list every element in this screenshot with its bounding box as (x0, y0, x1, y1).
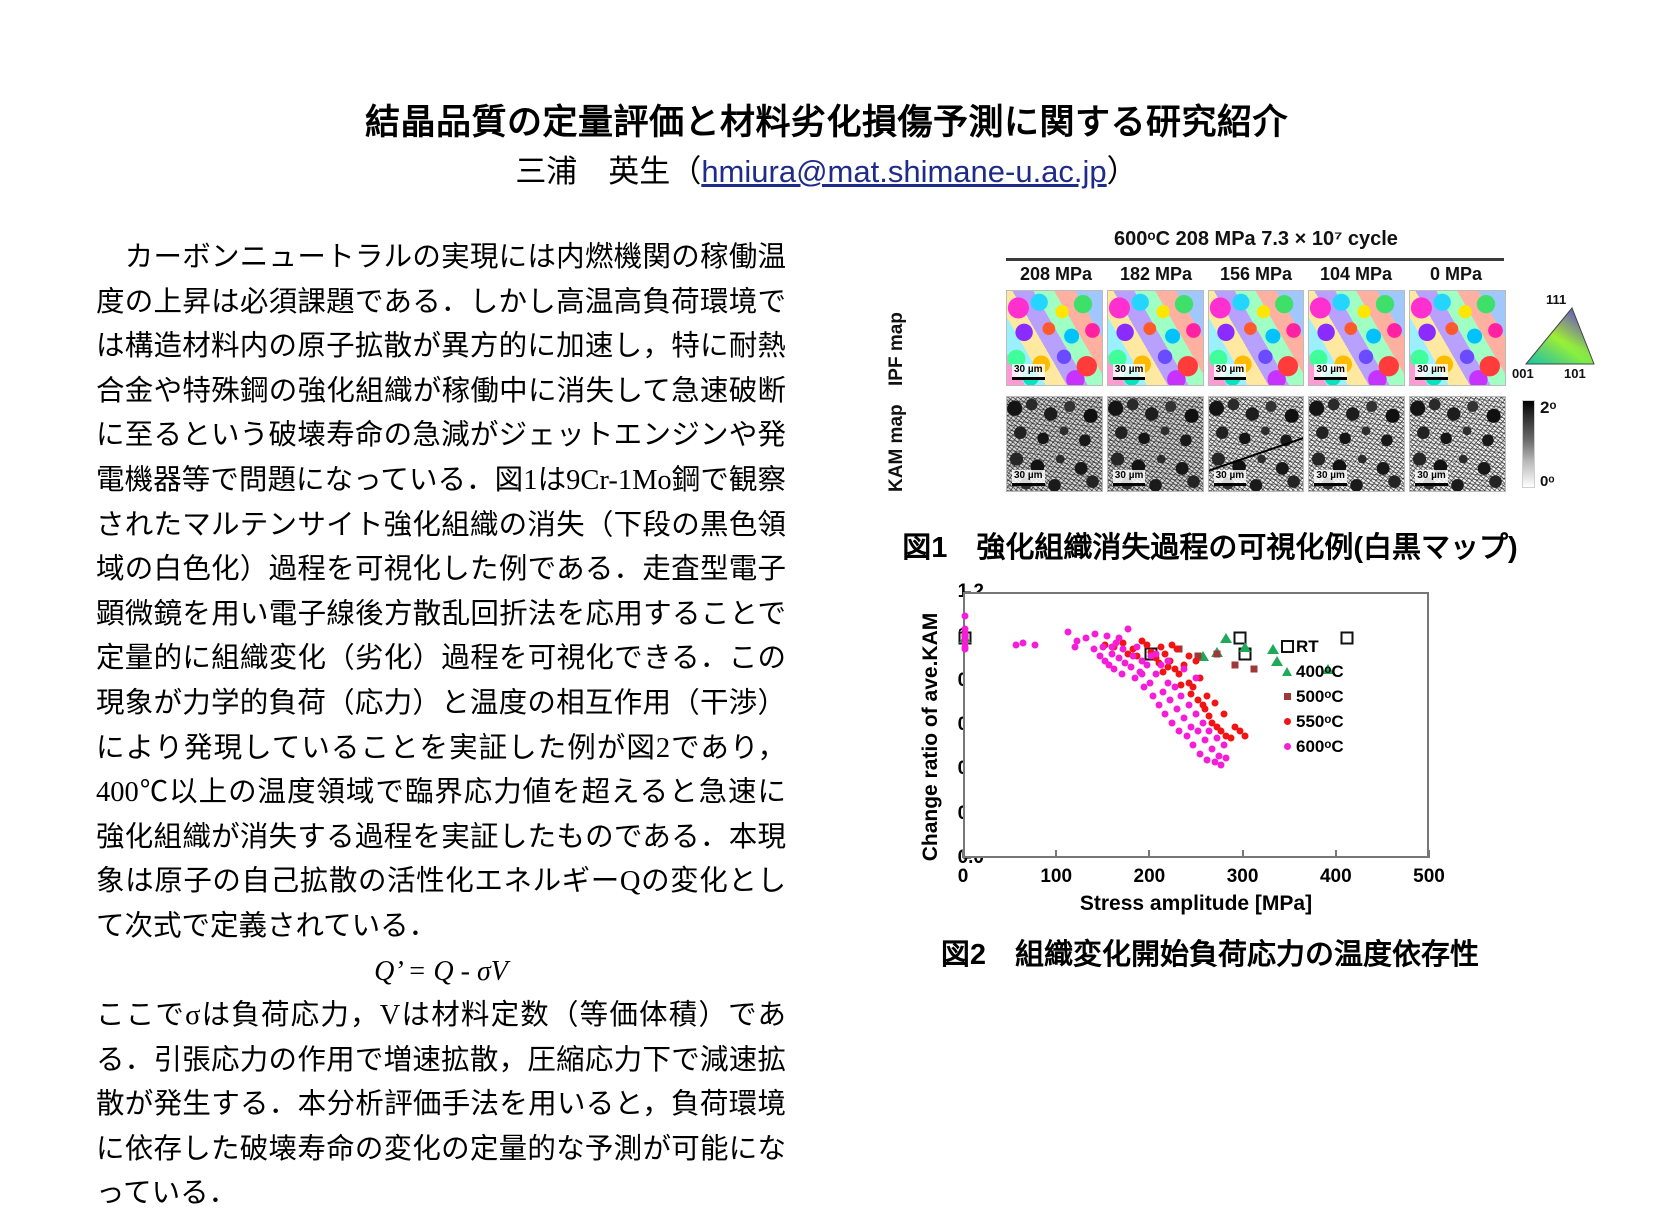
scale-bar-label: 30 µm (1314, 470, 1347, 486)
chart-data-point (1221, 741, 1228, 748)
ipf-label-111: 111 (1546, 292, 1566, 307)
figure-1-condition-header: 600ᵒC 208 MPa 7.3 × 10⁷ cycle (1006, 228, 1506, 251)
chart-x-tick-label: 200 (1119, 866, 1179, 888)
chart-data-point (1064, 628, 1071, 635)
chart-data-point (1220, 633, 1232, 643)
paren-open: （ (670, 154, 701, 189)
chart-x-tick-mark (1335, 850, 1337, 858)
chart-data-point (1165, 657, 1172, 664)
chart-data-point (1196, 750, 1203, 757)
ipf-map-tile: 30 µm (1107, 290, 1204, 386)
scale-bar-label: 30 µm (1012, 364, 1045, 380)
chart-x-tick-label: 0 (933, 866, 993, 888)
chart-data-point (1178, 681, 1185, 688)
equation-q-prime: Q’ = Q - σV (96, 950, 786, 995)
chart-data-point (1204, 692, 1211, 699)
figure-1-col-2: 156 MPa (1206, 264, 1306, 290)
chart-data-point (1168, 641, 1175, 648)
chart-data-point (1181, 715, 1188, 722)
chart-data-point (1171, 684, 1178, 691)
author-line: 三浦 英生（hmiura@mat.shimane-u.ac.jp） (0, 146, 1653, 191)
figure-1-col-3: 104 MPa (1306, 264, 1406, 290)
chart-data-point (1206, 728, 1213, 735)
chart-data-point (1193, 675, 1200, 682)
figure-1-row-label-ipf: IPF map (886, 290, 908, 386)
crack-line (1208, 433, 1305, 472)
chart-legend-item[interactable]: 400ᵒC (1278, 659, 1388, 684)
ipf-map-tile: 30 µm (1208, 290, 1305, 386)
chart-data-point (1195, 728, 1202, 735)
figure-1-col-1: 182 MPa (1106, 264, 1206, 290)
chart-data-point (1155, 701, 1162, 708)
chart-data-point (1127, 664, 1134, 671)
chart-data-point (1183, 732, 1190, 739)
chart-data-point (962, 613, 969, 620)
chart-data-point (1176, 728, 1183, 735)
chart-data-point (1031, 641, 1038, 648)
chart-data-point (962, 646, 969, 653)
scale-bar-label: 30 µm (1214, 364, 1247, 380)
chart-legend-marker-icon (1278, 743, 1296, 750)
chart-data-point (1115, 635, 1122, 642)
chart-data-point (1187, 724, 1194, 731)
chart-data-point (1083, 635, 1090, 642)
chart-data-point (1146, 679, 1153, 686)
chart-data-point (1153, 650, 1160, 657)
chart-data-point (1193, 710, 1200, 717)
chart-data-point (1190, 741, 1197, 748)
chart-legend-label: 550ᵒC (1296, 712, 1344, 732)
scale-bar-label: 30 µm (1113, 364, 1146, 380)
chart-data-point (1174, 706, 1181, 713)
chart-data-point (1187, 690, 1194, 697)
figure-1-rule (1006, 258, 1504, 261)
chart-x-tick-label: 500 (1399, 866, 1459, 888)
kam-bar-min-label: 0ᵒ (1540, 473, 1555, 490)
chart-data-point (1111, 666, 1118, 673)
chart-data-point (1157, 661, 1164, 668)
figure-2-caption: 図2 組織変化開始負荷応力の温度依存性 (860, 931, 1560, 973)
chart-legend-label: RT (1296, 637, 1319, 657)
chart-data-point (1178, 692, 1185, 699)
chart-data-point (1199, 719, 1206, 726)
chart-data-point (1143, 661, 1150, 668)
chart-x-tick-mark (1148, 850, 1150, 858)
scale-bar-label: 30 µm (1415, 364, 1448, 380)
ipf-triangle-legend: 111 001 101 (1516, 294, 1608, 386)
ipf-map-tile: 30 µm (1006, 290, 1103, 386)
chart-data-point (1267, 644, 1279, 654)
chart-data-point (1208, 746, 1215, 753)
kam-map-tile: 30 µm (1107, 396, 1204, 492)
scale-bar-label: 30 µm (1012, 470, 1045, 486)
ipf-label-001: 001 (1512, 366, 1534, 381)
chart-data-point (1073, 637, 1080, 644)
chart-data-point (1174, 646, 1181, 653)
figure-1-row-label-kam: KAM map (886, 396, 908, 492)
chart-data-point (1168, 719, 1175, 726)
body-paragraph-1: カーボンニュートラルの実現には内燃機関の稼働温度の上昇は必須課題である．しかし高… (96, 236, 786, 950)
chart-data-point (1162, 710, 1169, 717)
chart-data-point (1103, 633, 1110, 640)
chart-data-point (1211, 699, 1218, 706)
chart-data-point (1202, 737, 1209, 744)
figure-1-col-0: 208 MPa (1006, 264, 1106, 290)
chart-data-point (1150, 692, 1157, 699)
kam-bar-max-label: 2ᵒ (1540, 398, 1556, 418)
ipf-map-tile: 30 µm (1409, 290, 1506, 386)
chart-x-tick-mark (1055, 850, 1057, 858)
chart-legend-label: 600ᵒC (1296, 737, 1344, 757)
figure-1-col-4: 0 MPa (1406, 264, 1506, 290)
chart-data-point (1213, 650, 1220, 657)
chart-data-point (1109, 644, 1116, 651)
chart-x-tick-label: 100 (1026, 866, 1086, 888)
kam-map-tile: 30 µm (1006, 396, 1103, 492)
kam-map-tile: 30 µm (1308, 396, 1405, 492)
chart-legend-item[interactable]: 600ᵒC (1278, 734, 1388, 759)
chart-legend-marker-icon (1278, 718, 1296, 725)
chart-data-point (1241, 732, 1248, 739)
chart-data-point (1218, 761, 1225, 768)
chart-data-point (1215, 752, 1222, 759)
chart-data-point (1221, 710, 1228, 717)
scale-bar-label: 30 µm (1314, 364, 1347, 380)
chart-data-point (1167, 697, 1174, 704)
chart-x-tick-label: 400 (1306, 866, 1366, 888)
chart-data-point (1193, 657, 1200, 664)
chart-data-point (1134, 644, 1141, 651)
chart-legend-label: 400ᵒC (1296, 662, 1344, 682)
chart-x-tick-mark (1242, 850, 1244, 858)
chart-legend-item[interactable]: RT (1278, 634, 1388, 659)
chart-data-point (1204, 757, 1211, 764)
kam-colour-bar (1522, 400, 1535, 488)
chart-legend-marker-icon (1278, 640, 1296, 653)
chart-x-axis-label: Stress amplitude [MPa] (963, 892, 1429, 916)
chart-data-point (1227, 735, 1234, 742)
chart-data-point (1185, 653, 1192, 660)
kam-map-tile: 30 µm (1208, 396, 1305, 492)
page-root: 結晶品質の定量評価と材料劣化損傷予測に関する研究紹介 三浦 英生（hmiura@… (0, 0, 1653, 1164)
ipf-map-tile: 30 µm (1308, 290, 1405, 386)
chart-data-point (1071, 644, 1078, 651)
chart-data-point (1120, 646, 1127, 653)
chart-data-point (1190, 684, 1197, 691)
chart-data-point (1239, 642, 1251, 652)
chart-data-point (1090, 646, 1097, 653)
figure-1-kam-row: 30 µm 30 µm 30 µm 30 µm 30 µm (1006, 396, 1506, 492)
figure-1: 600ᵒC 208 MPa 7.3 × 10⁷ cycle 208 MPa 18… (888, 228, 1548, 518)
figure-1-ipf-row: 30 µm 30 µm 30 µm 30 µm 30 µm (1006, 290, 1506, 386)
chart-legend: RT400ᵒC500ᵒC550ᵒC600ᵒC (1278, 634, 1388, 759)
chart-data-point (1181, 666, 1188, 673)
chart-data-point (1159, 688, 1166, 695)
paren-close: ） (1107, 154, 1138, 189)
chart-data-point (1153, 670, 1160, 677)
page-title: 結晶品質の定量評価と材料劣化損傷予測に関する研究紹介 (0, 94, 1653, 145)
chart-data-point (1118, 670, 1125, 677)
chart-data-point (1213, 735, 1220, 742)
chart-data-point (1139, 670, 1146, 677)
chart-data-point (1092, 630, 1099, 637)
chart-legend-label: 500ᵒC (1296, 687, 1344, 707)
chart-legend-marker-icon (1278, 667, 1296, 676)
chart-legend-marker-icon (1278, 693, 1296, 700)
scale-bar-label: 30 µm (1113, 470, 1146, 486)
chart-x-tick-label: 300 (1213, 866, 1273, 888)
chart-legend-item[interactable]: 500ᵒC (1278, 684, 1388, 709)
chart-data-point (1159, 668, 1166, 675)
chart-data-point (1129, 653, 1136, 660)
chart-x-tick-mark (962, 850, 964, 858)
ipf-label-101: 101 (1564, 366, 1586, 381)
kam-map-tile: 30 µm (1409, 396, 1506, 492)
chart-data-point (1019, 639, 1026, 646)
figure-1-caption: 図1 強化組織消失過程の可視化例(白黒マップ) (860, 524, 1560, 566)
chart-data-point (1099, 644, 1106, 651)
chart-data-point (1222, 755, 1229, 762)
body-paragraph-2: ここでσは負荷応力，Vは材料定数（等価体積）である．引張応力の作用で増速拡散，圧… (96, 994, 786, 1217)
figure-2-chart: Change ratio of ave.KAM 0.00.20.40.60.81… (880, 580, 1540, 925)
scale-bar-label: 30 µm (1214, 470, 1247, 486)
scale-bar-label: 30 µm (1415, 470, 1448, 486)
chart-x-tick-mark (1428, 850, 1430, 858)
figure-1-column-labels: 208 MPa 182 MPa 156 MPa 104 MPa 0 MPa (1006, 264, 1506, 290)
chart-data-point (1250, 666, 1257, 673)
body-text-column: カーボンニュートラルの実現には内燃機関の稼働温度の上昇は必須課題である．しかし高… (96, 236, 786, 1217)
chart-data-point (1125, 626, 1132, 633)
chart-data-point (1232, 661, 1239, 668)
author-name: 三浦 英生 (515, 154, 670, 189)
chart-legend-item[interactable]: 550ᵒC (1278, 709, 1388, 734)
chart-data-point (1185, 701, 1192, 708)
author-email-link[interactable]: hmiura@mat.shimane-u.ac.jp (701, 154, 1106, 189)
chart-data-point (1131, 675, 1138, 682)
